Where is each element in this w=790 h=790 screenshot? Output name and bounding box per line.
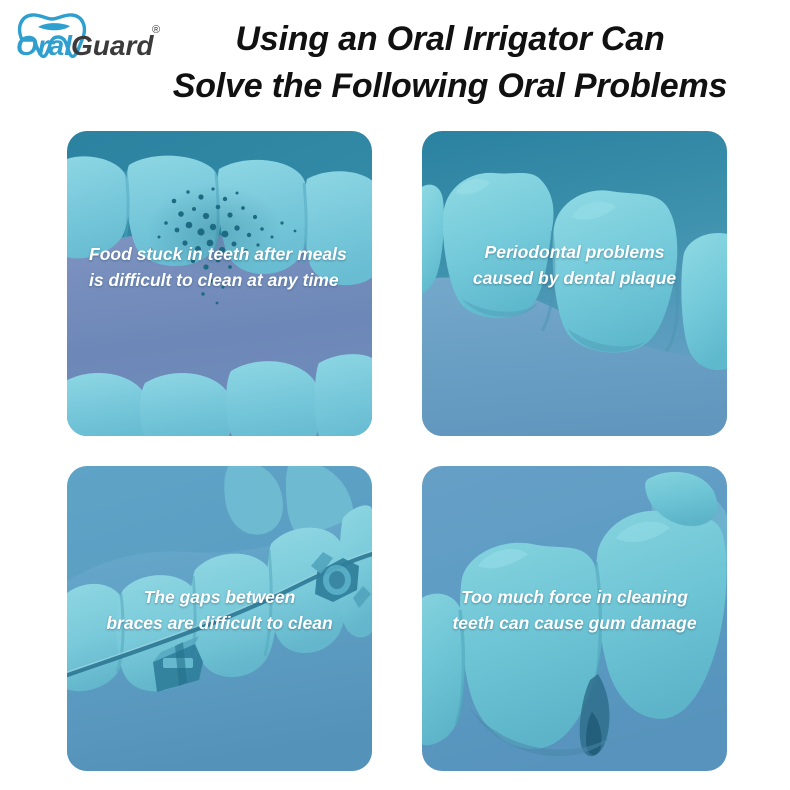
- caption-line-1: Periodontal problems: [422, 239, 727, 265]
- panel-food-stuck-caption: Food stuck in teeth after meals is diffi…: [67, 241, 372, 293]
- panel-braces-gaps-caption: The gaps between braces are difficult to…: [67, 584, 372, 636]
- panel-periodontal-plaque-caption: Periodontal problems caused by dental pl…: [422, 239, 727, 291]
- panel-gum-damage: Too much force in cleaning teeth can cau…: [422, 466, 727, 771]
- page-title: Using an Oral Irrigator Can Solve the Fo…: [120, 16, 780, 110]
- panel-food-stuck: Food stuck in teeth after meals is diffi…: [67, 131, 372, 436]
- caption-line-2: caused by dental plaque: [422, 265, 727, 291]
- logo-text-oral: Oral: [16, 30, 73, 61]
- caption-line-1: The gaps between: [67, 584, 372, 610]
- panel-periodontal-plaque: Periodontal problems caused by dental pl…: [422, 131, 727, 436]
- caption-line-1: Food stuck in teeth after meals: [89, 241, 372, 267]
- page-header: Oral Guard ® Using an Oral Irrigator Can…: [0, 0, 790, 118]
- panel-braces-gaps: The gaps between braces are difficult to…: [67, 466, 372, 771]
- page-title-line-2: Solve the Following Oral Problems: [120, 63, 780, 110]
- caption-line-2: teeth can cause gum damage: [422, 610, 727, 636]
- caption-line-2: braces are difficult to clean: [67, 610, 372, 636]
- panel-gum-damage-caption: Too much force in cleaning teeth can cau…: [422, 584, 727, 636]
- caption-line-2: is difficult to clean at any time: [89, 267, 372, 293]
- caption-line-1: Too much force in cleaning: [422, 584, 727, 610]
- problem-panel-grid: Food stuck in teeth after meals is diffi…: [67, 131, 727, 771]
- page-title-line-1: Using an Oral Irrigator Can: [120, 16, 780, 63]
